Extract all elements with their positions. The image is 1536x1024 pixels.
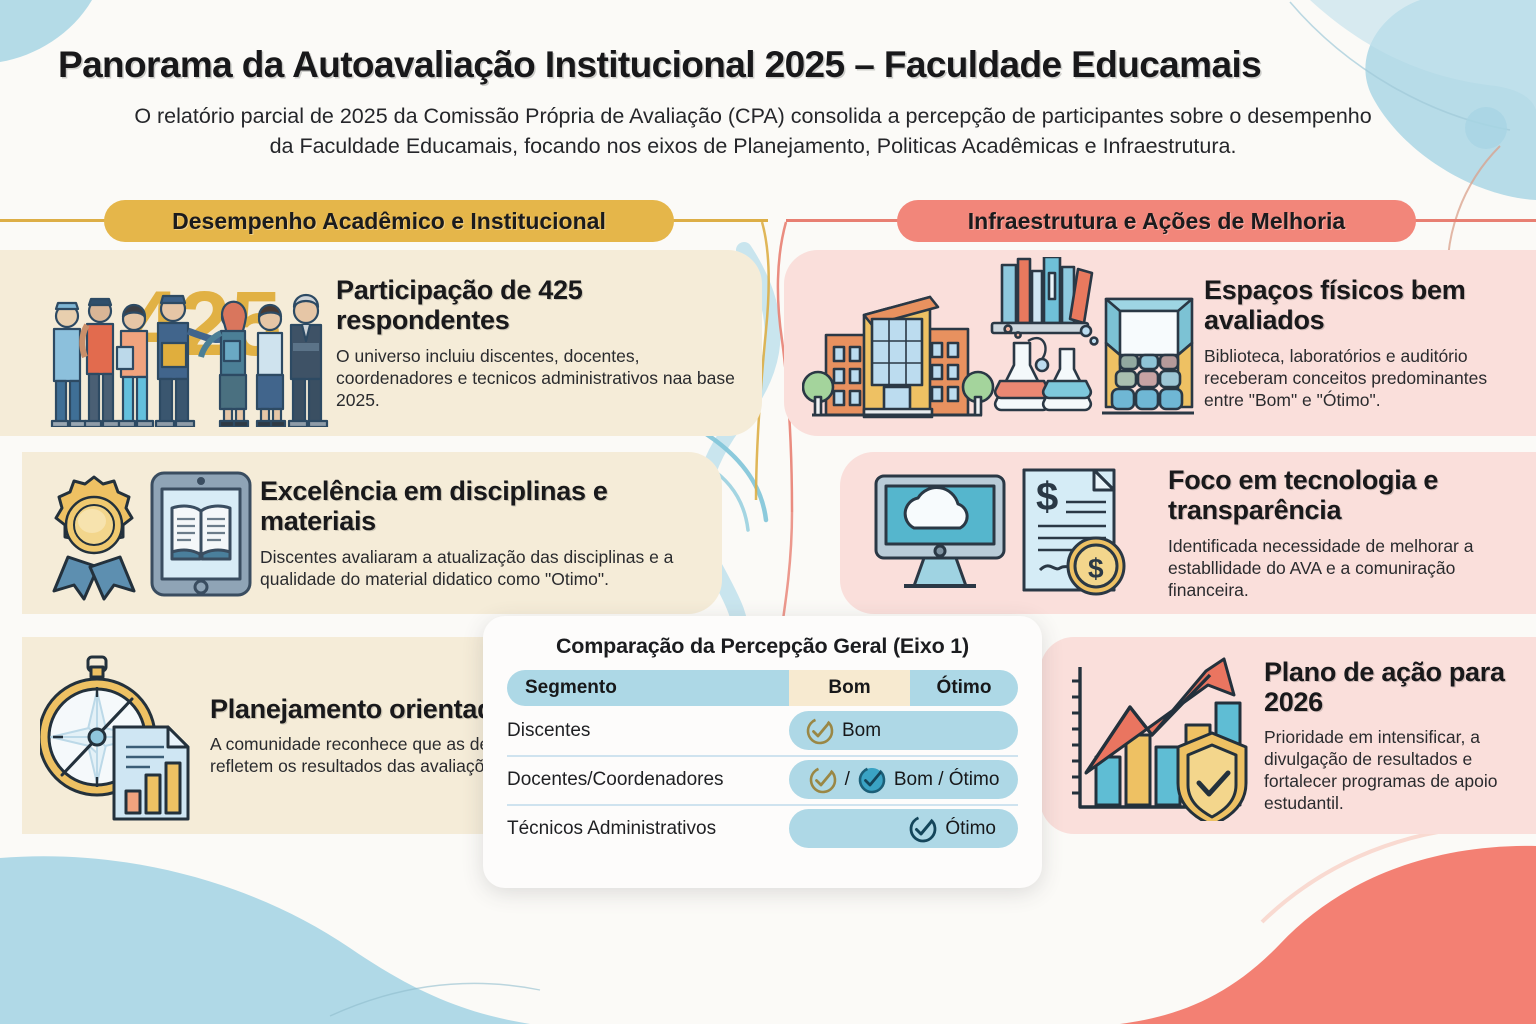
section-header-left: Desempenho Acadêmico e Institucional (104, 200, 674, 242)
campus-library-auditorium-icon (802, 257, 1194, 429)
card-text: Foco em tecnologia e transparência Ident… (1158, 465, 1518, 601)
section-rule-left-end (668, 219, 768, 222)
section-header-right: Infraestrutura e Ações de Melhoria (897, 200, 1416, 242)
row-value-text: Bom (842, 720, 881, 742)
line-bottom-right (1262, 824, 1536, 922)
row-value-text: Ótimo (945, 818, 996, 840)
compass-and-chart-document-icon (40, 651, 210, 821)
medal-and-tablet-book-icon (40, 465, 260, 601)
section-rule-right-start (786, 219, 904, 222)
row-value-separator: / (845, 769, 850, 791)
card-body: Identificada necessidade de melhorar a e… (1168, 535, 1518, 601)
comparison-panel-title: Comparação da Percepção Geral (Eixo 1) (507, 634, 1018, 659)
comparison-table-header-row: Segmento Bom Ótimo (507, 670, 1018, 706)
column-header-otimo: Ótimo (910, 677, 1018, 699)
line-bottom-left (330, 983, 540, 1016)
row-value-pill: Ótimo (789, 809, 1018, 848)
dot-top-right (1465, 107, 1507, 149)
card-body: Prioridade em intensificar, a divulgação… (1264, 726, 1518, 814)
page-title: Panorama da Autoavaliação Institucional … (58, 44, 1261, 86)
growth-chart-and-shield-icon (1058, 651, 1254, 821)
card-heading: Excelência em disciplinas e materiais (260, 476, 704, 536)
check-circle-bom-icon (808, 765, 838, 795)
section-rule-left-start (0, 219, 108, 222)
svg-text:$: $ (1036, 475, 1058, 519)
check-circle-bom-icon (805, 716, 835, 746)
table-row-divider (507, 804, 1018, 806)
card-heading: Espaços físicos bem avaliados (1204, 275, 1518, 335)
card-text: Participação de 425 respondentes O unive… (336, 275, 744, 411)
page-subtitle: O relatório parcial de 2025 da Comissão … (128, 102, 1378, 161)
column-header-bom: Bom (789, 677, 910, 699)
card-excelencia: Excelência em disciplinas e materiais Di… (22, 452, 722, 614)
table-row: Técnicos Administrativos Ótimo (507, 809, 1018, 848)
card-plano-de-acao: Plano de ação para 2026 Prioridade em in… (1040, 637, 1536, 834)
card-heading: Plano de ação para 2026 (1264, 657, 1518, 717)
monitor-cloud-and-invoice-icon: $ $ (858, 458, 1158, 608)
card-text: Espaços físicos bem avaliados Biblioteca… (1194, 275, 1518, 411)
section-rule-right-end (1410, 219, 1536, 222)
card-participacao: 425 (0, 250, 762, 436)
column-header-segmento: Segmento (507, 677, 789, 699)
card-body: O universo incluiu discentes, docentes, … (336, 345, 744, 411)
card-body: Biblioteca, laboratórios e auditório rec… (1204, 345, 1518, 411)
card-text: Excelência em disciplinas e materiais Di… (260, 476, 704, 590)
card-tecnologia: $ $ Foco em tecnologia e transparência I… (840, 452, 1536, 614)
row-segment-label: Discentes (507, 720, 789, 742)
table-row: Discentes Bom (507, 711, 1018, 750)
card-espacos-fisicos: Espaços físicos bem avaliados Biblioteca… (784, 250, 1536, 436)
check-circle-otimo-icon (857, 765, 887, 795)
row-value-pill: Bom (789, 711, 1018, 750)
row-segment-label: Técnicos Administrativos (507, 818, 789, 840)
card-body: Discentes avaliaram a atualização das di… (260, 546, 704, 590)
blob-bottom-right (1120, 846, 1536, 1024)
card-heading: Foco em tecnologia e transparência (1168, 465, 1518, 525)
blob-top-right-soft (1310, 0, 1536, 110)
group-of-people-icon: 425 (18, 259, 336, 427)
table-row-divider (507, 755, 1018, 757)
svg-text:$: $ (1088, 553, 1104, 584)
card-text: Plano de ação para 2026 Prioridade em in… (1254, 657, 1518, 815)
infographic-canvas: Panorama da Autoavaliação Institucional … (0, 0, 1536, 1024)
check-circle-otimo-icon (908, 814, 938, 844)
blob-bottom-left (0, 856, 530, 1024)
row-value-pill: / Bom / Ótimo (789, 760, 1018, 799)
blob-top-right-main (1365, 0, 1536, 200)
row-value-text: Bom / Ótimo (894, 769, 1000, 791)
table-row: Docentes/Coordenadores / Bom / Ótimo (507, 760, 1018, 799)
card-heading: Participação de 425 respondentes (336, 275, 744, 335)
row-segment-label: Docentes/Coordenadores (507, 769, 789, 791)
comparison-panel: Comparação da Percepção Geral (Eixo 1) S… (483, 616, 1042, 888)
